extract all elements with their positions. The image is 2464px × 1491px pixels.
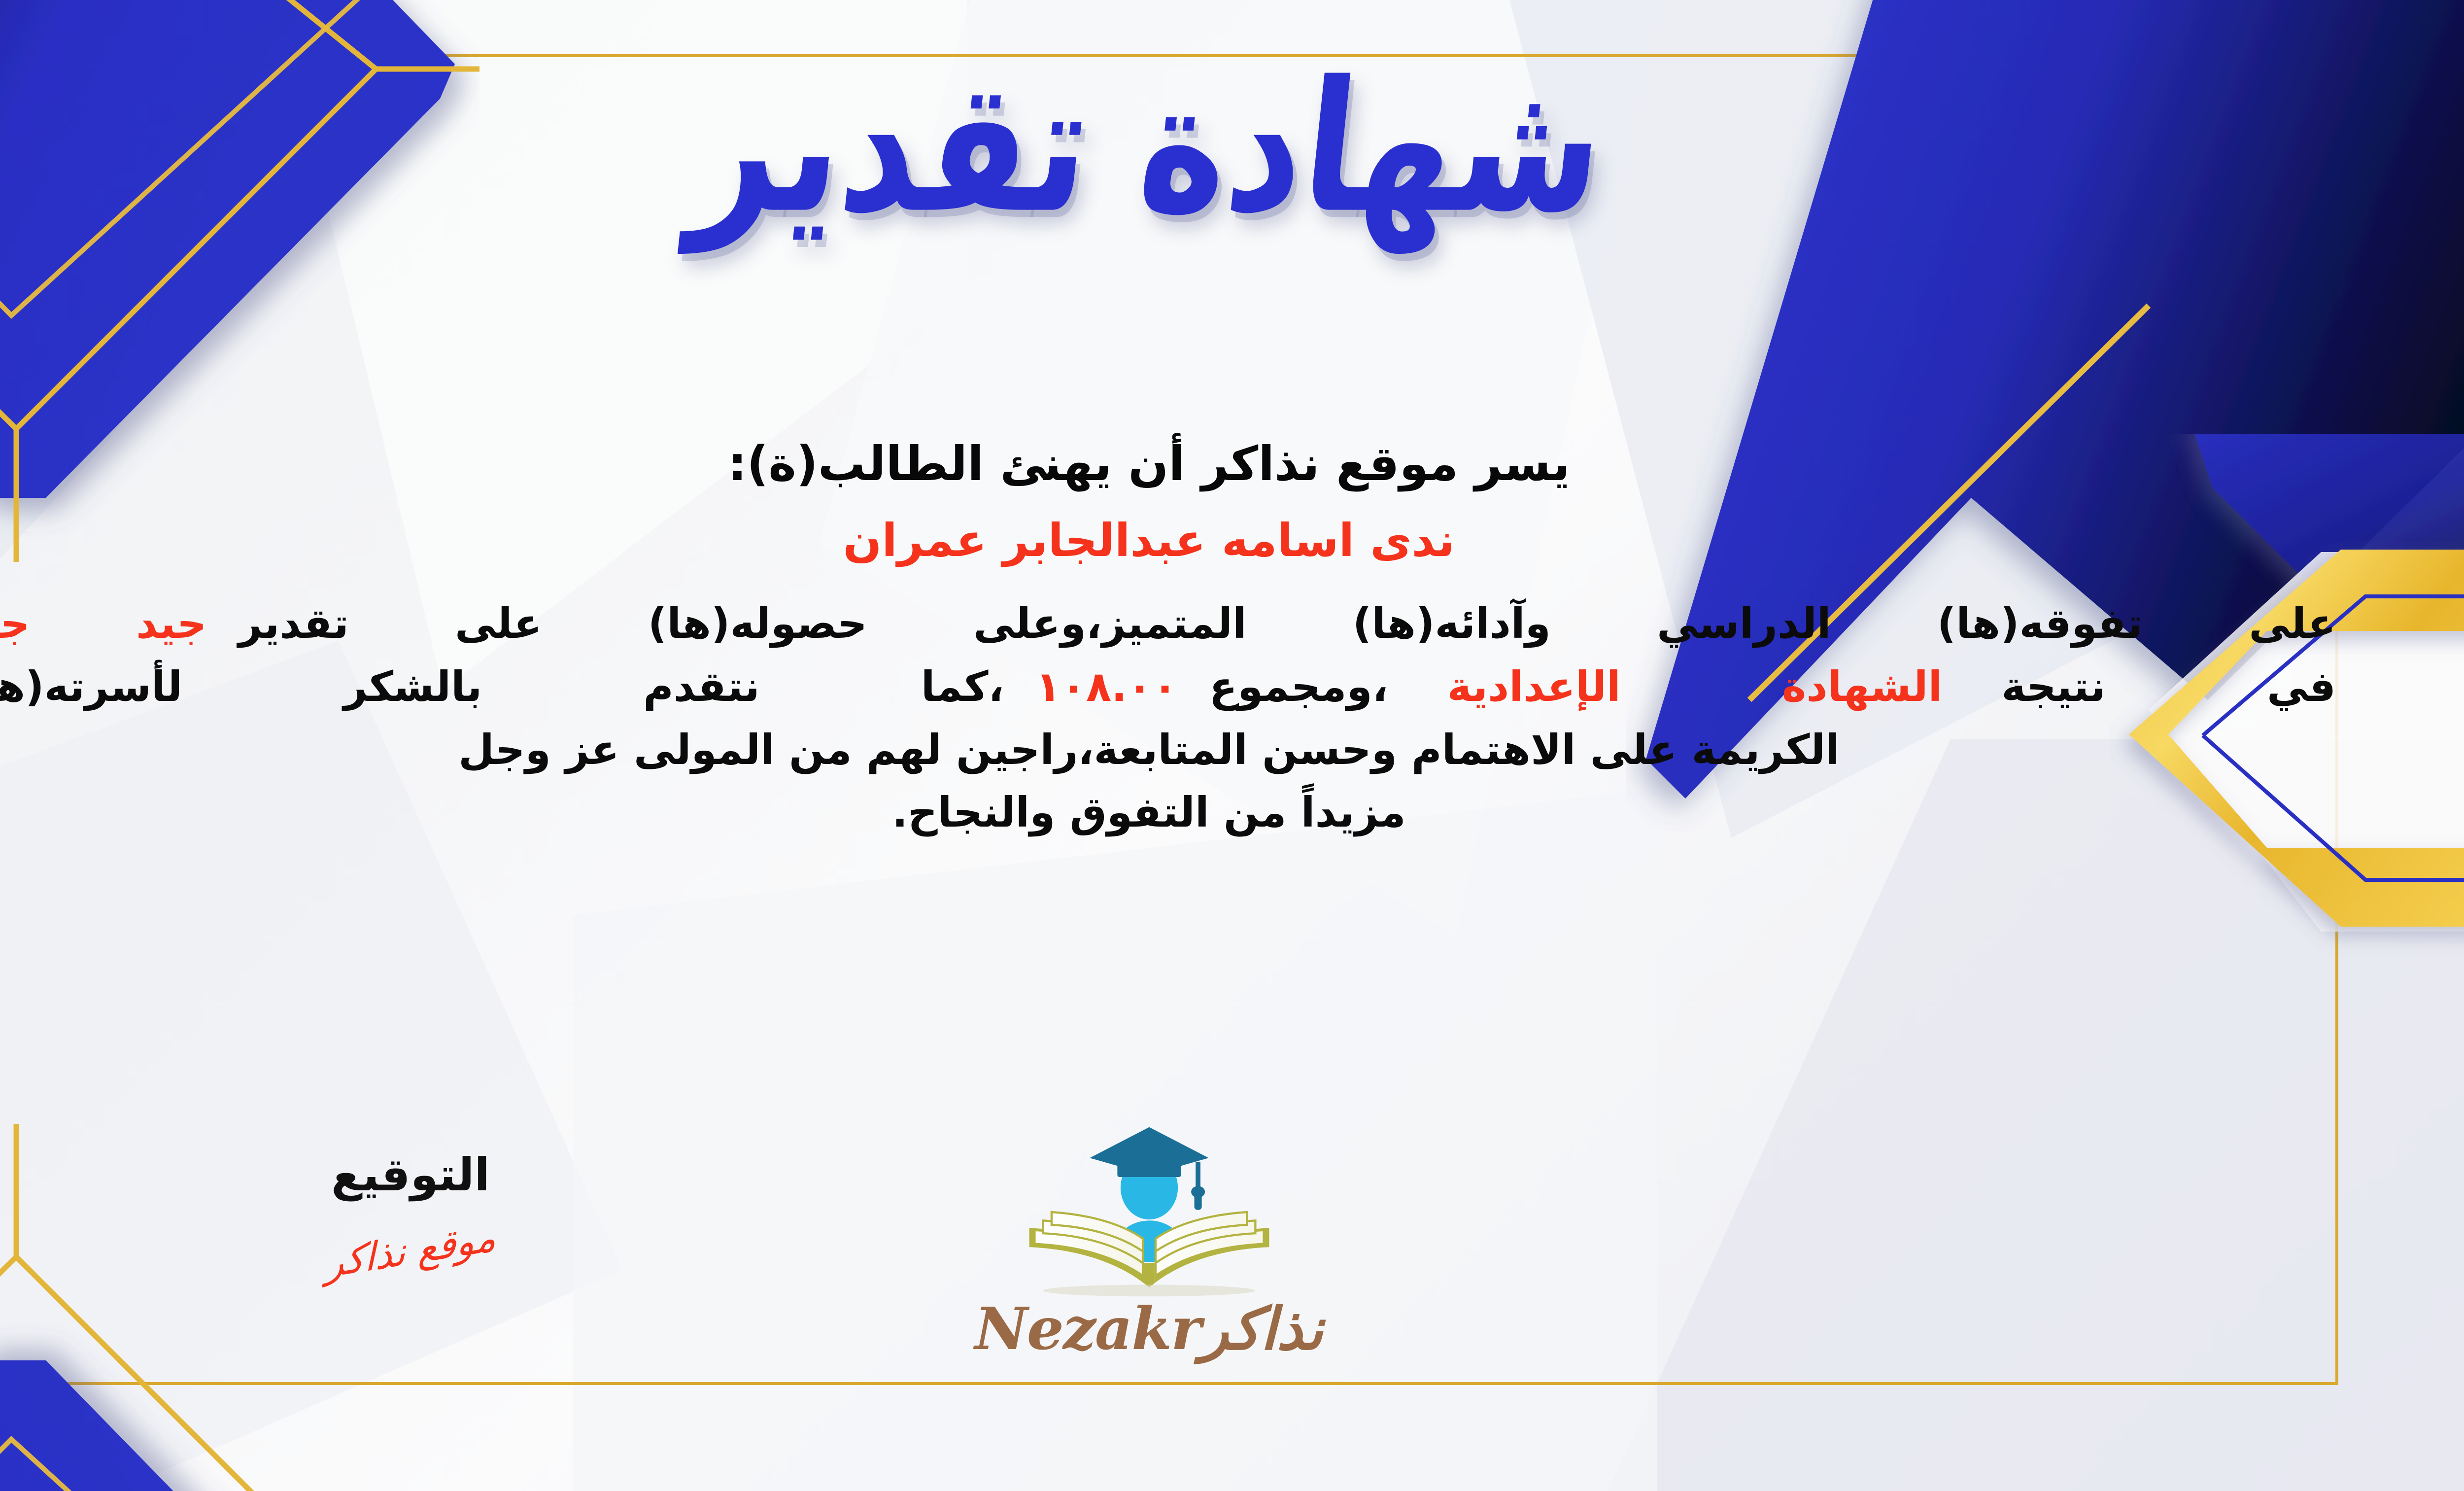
certificate-title-area: شهادة تقدير [0, 74, 2464, 222]
citation-paragraph: على تفوقه(ها) الدراسي وآدائه(ها) المتميز… [0, 592, 2365, 844]
citation-line-4: مزيداً من التفوق والنجاح. [0, 781, 2336, 844]
brand-logo-text: نذاكرNezakr [0, 1294, 2464, 1363]
total-score-value: ١٠٨.٠٠ [1035, 662, 1177, 711]
brand-name-english: Nezakr [975, 1294, 1200, 1363]
citation-line-1-text: على تفوقه(ها) الدراسي وآدائه(ها) المتميز… [238, 599, 2336, 648]
certificate-canvas: شهادة تقدير يسر موقع نذاكر أن يهنئ الطال… [0, 0, 2464, 1491]
exam-name: الشهادة الإعدادية [1447, 662, 1943, 711]
citation-line-1: على تفوقه(ها) الدراسي وآدائه(ها) المتميز… [0, 592, 2336, 656]
citation-line-2-suffix: ،كما نتقدم بالشكر لأسرته(ها) [0, 662, 1004, 711]
grade-value: جيد جداً [0, 599, 206, 648]
brand-logo-block: نذاكرNezakr [0, 1124, 2464, 1363]
page-title: شهادة تقدير [685, 58, 1612, 238]
certificate-body: يسر موقع نذاكر أن يهنئ الطالب(ة): ندى اس… [0, 434, 2365, 844]
greeting-text: يسر موقع نذاكر أن يهنئ الطالب(ة): [0, 434, 2365, 494]
brand-name-arabic: نذاكر [1200, 1294, 1323, 1363]
citation-line-2: في نتيجةالشهادة الإعدادية،ومجموع١٠٨.٠٠،ك… [0, 656, 2336, 719]
student-name: ندى اسامه عبدالجابر عمران [0, 511, 2365, 570]
citation-line-3: الكريمة على الاهتمام وحسن المتابعة،راجين… [0, 719, 2336, 782]
citation-total-label: ،ومجموع [1209, 662, 1388, 711]
citation-line-2-prefix: في نتيجة [2001, 662, 2336, 711]
graduate-book-logo-icon [1011, 1124, 1287, 1299]
